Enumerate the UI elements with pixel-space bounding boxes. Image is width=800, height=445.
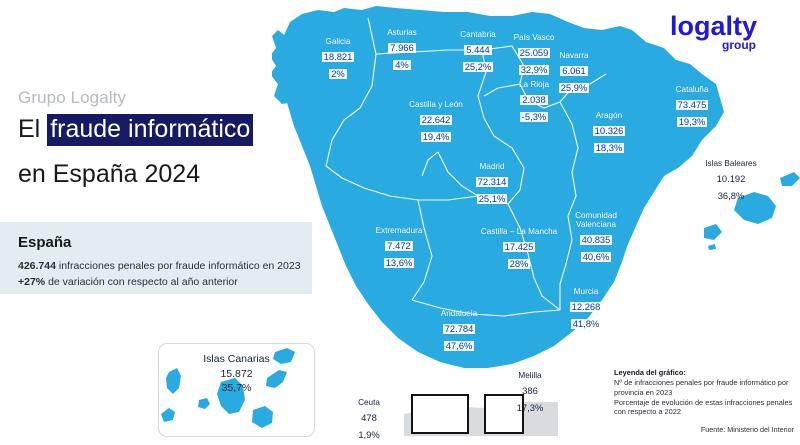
logo-wordmark: logalty [670,11,757,41]
region-pct: 1,9% [358,430,379,440]
region-pct: 47,6% [444,341,475,351]
region-value: 22.642 [420,115,453,125]
region-value: 478 [361,413,377,423]
region-pct-wrap: 13,6% [368,253,430,270]
region-pct: 41,8% [571,319,602,329]
region-name: País Vasco [507,34,561,43]
legend-line-2: provincia en 2023 [614,388,794,398]
region-value: 40.835 [580,235,613,245]
region-value-wrap: 12.268 [562,297,610,314]
region-label-catalu-a: Cataluña73.47519,3% [666,86,718,129]
region-value: 5.444 [464,45,491,55]
region-value-wrap: 22.642 [400,110,472,127]
canarias-inset-box: Islas Canarias 15.872 35,7% [158,343,315,437]
region-label-islas-baleares: Islas Baleares10.19236,8% [693,160,769,203]
region-value: 7.472 [385,241,412,251]
region-name: Madrid [466,163,518,172]
region-pct-wrap: 19,4% [400,127,472,144]
region-label-ceuta: Ceuta4781,9% [347,399,391,442]
region-name: Cataluña [666,86,718,95]
region-value-wrap: 40.835 [570,230,622,247]
region-pct-wrap: 36,8% [693,186,769,203]
spain-summary-heading: España [18,234,71,251]
region-value-wrap: 17.425 [476,237,562,254]
region-name: Cantabria [452,31,504,40]
canarias-label: Islas Canarias [159,353,314,365]
region-label-arag-n: Aragón10.32618,3% [584,112,634,155]
region-pct-wrap: 41,8% [562,314,610,331]
region-pct-wrap: 28% [476,254,562,271]
region-label-asturias: Asturias7.9664% [378,29,426,72]
canarias-pct: 35,7% [159,382,314,394]
island-ibiza [704,224,722,240]
region-name: Aragón [584,112,634,121]
region-value-wrap: 7.472 [368,236,430,253]
region-value-wrap: 478 [347,408,391,425]
region-pct: 36,8% [718,191,745,201]
legend-source: Fuente: Ministerio del Interior [614,425,794,434]
region-pct: 28% [508,259,531,269]
region-name: Galicia [314,38,362,47]
region-value-wrap: 10.326 [584,121,634,138]
region-name: Andalucía [430,310,488,319]
region-label-castilla-la-mancha: Castilla – La Mancha17.42528% [476,228,562,271]
region-pct: -5,3% [520,112,549,122]
region-value-wrap: 18.821 [314,47,362,64]
region-name: Islas Baleares [693,160,769,169]
title-prefix: El [18,115,47,143]
brand-kicker: Grupo Logalty [18,88,126,108]
spain-change-text: de variación con respecto al año anterio… [45,276,238,288]
region-value-wrap: 72.314 [466,172,518,189]
region-name: Melilla [505,372,555,381]
legend-line-3: Porcentaje de evolución de estas infracc… [614,398,794,408]
region-name: La Rioja [510,81,558,90]
region-pct-wrap: 47,6% [430,336,488,353]
region-label-cantabria: Cantabria5.44425,2% [452,31,504,74]
region-pct: 40,6% [581,252,612,262]
region-value-wrap: 5.444 [452,40,504,57]
region-pct: 4% [393,60,411,70]
region-pct-wrap: 1,9% [347,425,391,442]
island-formentera [708,244,716,250]
region-value: 10.192 [717,174,746,184]
chart-legend: Leyenda del gráfico: Nº de infracciones … [614,368,794,434]
spain-summary-box: España 426.744 infracciones penales por … [0,222,312,294]
region-pct: 25,1% [477,194,508,204]
region-value: 25.059 [518,48,551,58]
region-label-comunidad-valenciana: ComunidadValenciana40.83540,6% [570,212,622,264]
region-label-andaluc-a: Andalucía72.78447,6% [430,310,488,353]
region-value: 7.966 [388,43,415,53]
region-pct-wrap: -5,3% [510,107,558,124]
region-value-wrap: 72.784 [430,319,488,336]
region-pct-wrap: 4% [378,55,426,72]
region-value-wrap: 73.475 [666,95,718,112]
logo-subtext: group [722,38,756,52]
spain-total-value: 426.744 [18,260,56,272]
infographic-canvas: Grupo Logalty El fraude informático en E… [0,0,800,445]
region-value: 73.475 [676,100,709,110]
canarias-value: 15.872 [159,368,314,380]
region-value: 2.038 [520,95,547,105]
region-value: 72.784 [443,324,476,334]
region-name: Extremadura [368,227,430,236]
region-pct: 25,2% [463,62,494,72]
region-label-extremadura: Extremadura7.47213,6% [368,227,430,270]
region-label-la-rioja: La Rioja2.038-5,3% [510,81,558,124]
region-pct-wrap: 25,2% [452,57,504,74]
page-title-line1: El fraude informático [18,115,253,144]
region-value-wrap: 2.038 [510,90,558,107]
region-pct: 17,3% [517,403,544,413]
region-value-wrap: 6.061 [549,61,599,78]
title-highlight: fraude informático [47,114,253,146]
region-pct-wrap: 40,6% [570,247,622,264]
spain-change-value: +27% [18,276,45,288]
region-value: 386 [522,386,538,396]
spain-summary-line1: 426.744 infracciones penales por fraude … [18,260,301,272]
region-pct-wrap: 17,3% [505,398,555,415]
region-name: Ceuta [347,399,391,408]
region-value-wrap: 386 [505,381,555,398]
region-value: 6.061 [560,66,587,76]
island-menorca [780,172,800,186]
legend-line-1: Nº de infracciones penales por fraude in… [614,378,794,388]
region-value-wrap: 7.966 [378,38,426,55]
region-pct: 19,4% [421,132,452,142]
region-pct-wrap: 19,3% [666,112,718,129]
region-label-madrid: Madrid72.31425,1% [466,163,518,206]
region-name: Murcia [562,288,610,297]
region-name-line2: Valenciana [570,221,622,230]
region-pct: 19,3% [677,117,708,127]
region-label-castilla-y-le-n: Castilla y León22.64219,4% [400,101,472,144]
page-title-line2: en España 2024 [18,160,200,189]
region-name: Asturias [378,29,426,38]
region-pct-wrap: 2% [314,64,362,81]
region-pct: 18,3% [594,143,625,153]
region-name: Navarra [549,52,599,61]
region-pct: 32,9% [519,65,550,75]
spain-summary-line2: +27% de variación con respecto al año an… [18,276,238,288]
logalty-logo: logalty group [670,8,786,54]
region-value-wrap: 10.192 [693,169,769,186]
region-pct: 25,9% [559,83,590,93]
region-value: 18.821 [322,52,355,62]
region-value: 12.268 [570,302,603,312]
region-label-galicia: Galicia18.8212% [314,38,362,81]
region-pct: 13,6% [384,258,415,268]
region-value: 10.326 [593,126,626,136]
legend-title: Leyenda del gráfico: [614,368,794,377]
region-name: Castilla – La Mancha [476,228,562,237]
region-pct-wrap: 25,1% [466,189,518,206]
ceuta-callout-frame [411,394,469,434]
region-label-melilla: Melilla38617,3% [505,372,555,415]
region-value: 17.425 [503,242,536,252]
region-name: Castilla y León [400,101,472,110]
spain-total-text: infracciones penales por fraude informát… [56,260,301,272]
region-label-murcia: Murcia12.26841,8% [562,288,610,331]
region-value: 72.314 [476,177,509,187]
region-pct: 2% [329,69,347,79]
region-pct-wrap: 18,3% [584,138,634,155]
legend-line-4: con respecto a 2022 [614,407,794,417]
